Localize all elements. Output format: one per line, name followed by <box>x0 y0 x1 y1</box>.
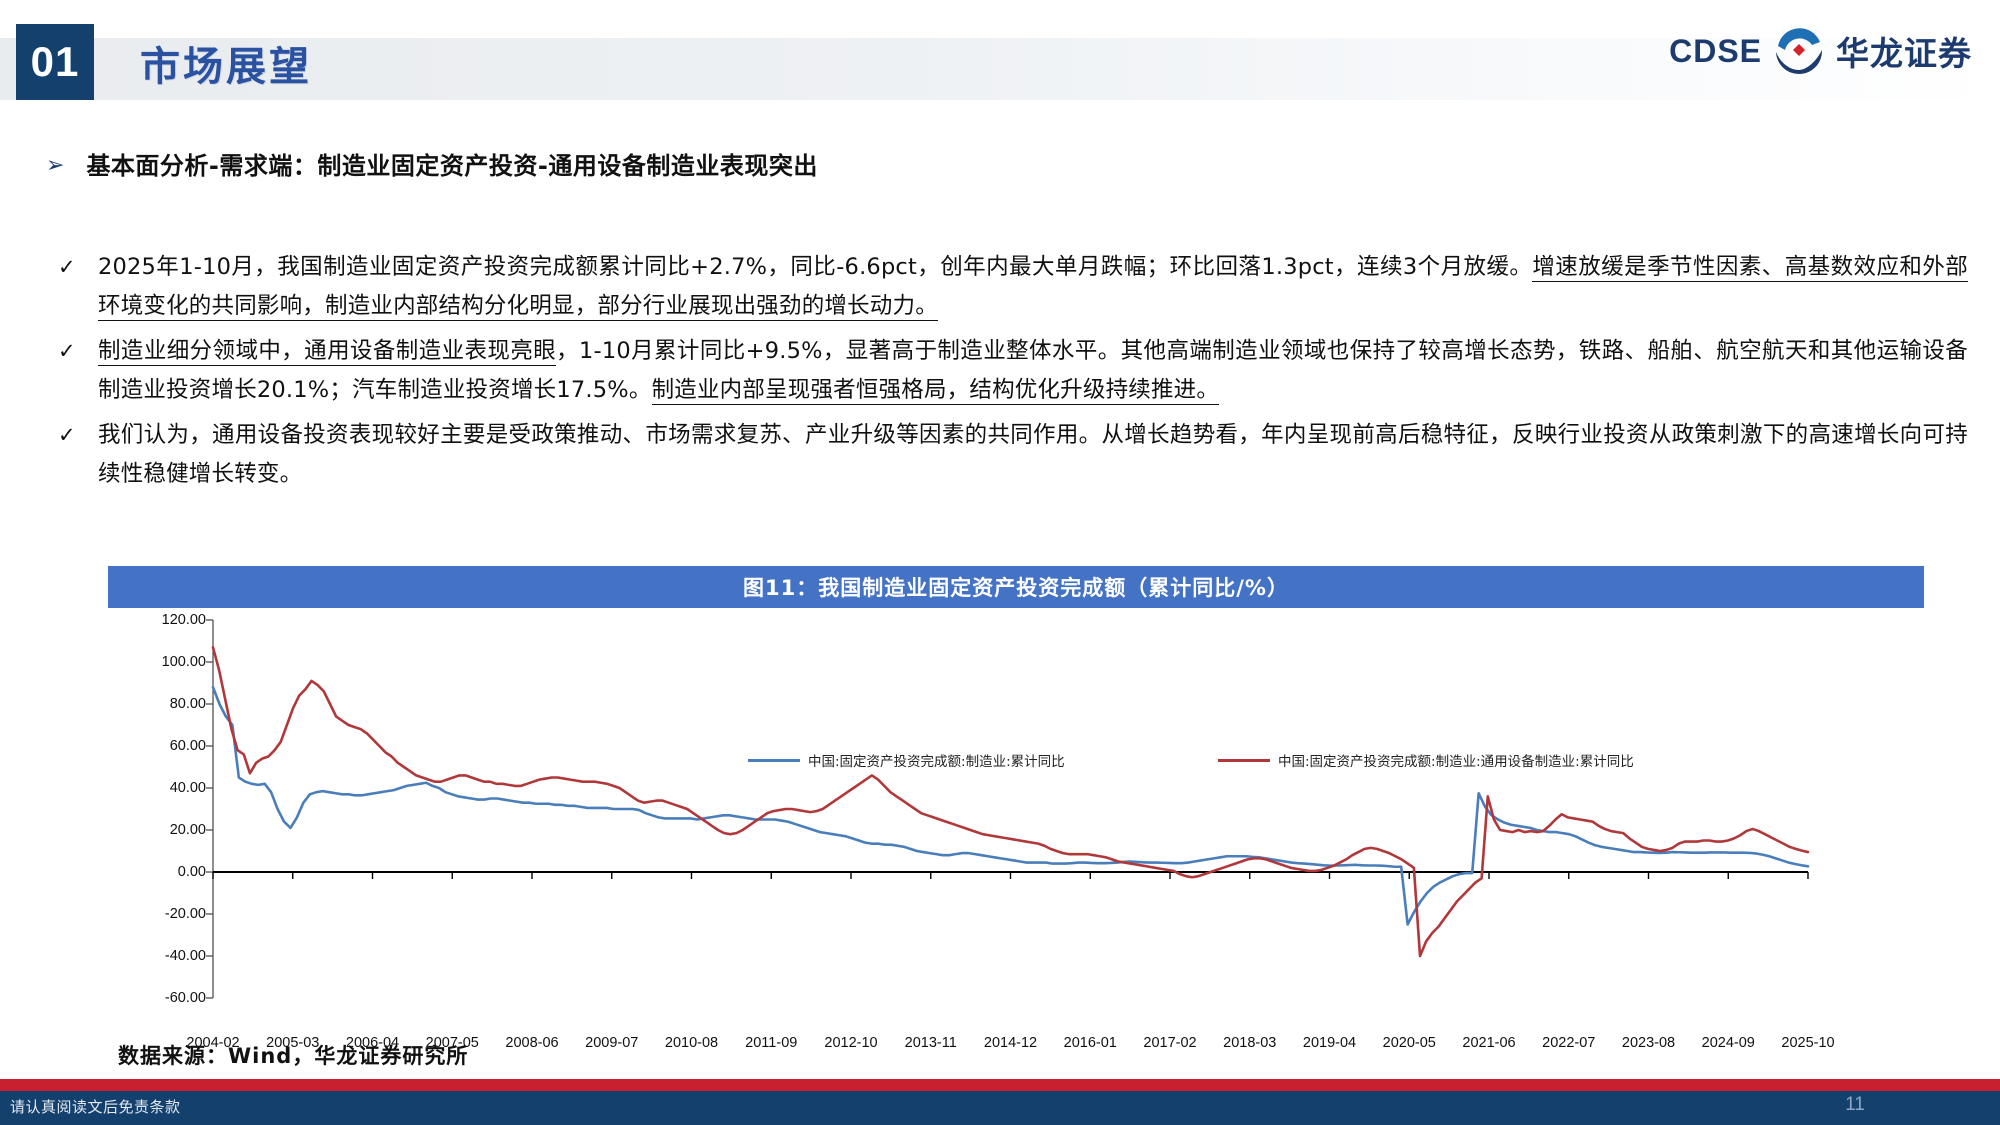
y-tick-label: 20.00 <box>170 822 206 838</box>
legend-item: 中国:固定资产投资完成额:制造业:通用设备制造业:累计同比 <box>1218 750 1634 770</box>
y-axis-labels: -60.00-40.00-20.000.0020.0040.0060.0080.… <box>108 608 206 1028</box>
x-tick-label: 2021-06 <box>1462 1035 1515 1051</box>
footer-navy-bar <box>0 1091 2000 1125</box>
y-tick-label: 0.00 <box>178 864 206 880</box>
x-tick-label: 2020-05 <box>1383 1035 1436 1051</box>
bullet-3-text: 我们认为，通用设备投资表现较好主要是受政策推动、市场需求复苏、产业升级等因素的共… <box>98 416 1968 494</box>
legend-label: 中国:固定资产投资完成额:制造业:通用设备制造业:累计同比 <box>1278 750 1634 770</box>
check-icon: ✓ <box>58 332 80 371</box>
legend-label: 中国:固定资产投资完成额:制造业:累计同比 <box>808 750 1065 770</box>
chart-svg <box>108 608 1924 1028</box>
bullet-2-text: 制造业细分领域中，通用设备制造业表现亮眼，1-10月累计同比+9.5%，显著高于… <box>98 332 1968 410</box>
y-tick-label: -20.00 <box>165 906 206 922</box>
x-tick-label: 2024-09 <box>1702 1035 1755 1051</box>
check-icon: ✓ <box>58 416 80 455</box>
lead-heading-text: 基本面分析-需求端：制造业固定资产投资-通用设备制造业表现突出 <box>86 150 817 182</box>
page-number: 11 <box>1825 1094 1885 1116</box>
x-tick-label: 2017-02 <box>1143 1035 1196 1051</box>
chart-plot-area: -60.00-40.00-20.000.0020.0040.0060.0080.… <box>108 608 1924 1028</box>
logo-latin-text: CDSE <box>1669 33 1762 70</box>
lead-heading: ➢ 基本面分析-需求端：制造业固定资产投资-通用设备制造业表现突出 <box>46 150 1746 182</box>
y-tick-label: 80.00 <box>170 696 206 712</box>
x-tick-label: 2011-09 <box>745 1035 797 1051</box>
x-tick-label: 2022-07 <box>1542 1035 1595 1051</box>
wave-circle-icon <box>1772 24 1826 78</box>
page-title: 市场展望 <box>140 34 312 92</box>
x-tick-label: 2008-06 <box>505 1035 558 1051</box>
source-note: 数据来源：Wind，华龙证券研究所 <box>118 1040 468 1070</box>
bullet-2-seg3: 制造业内部呈现强者恒强格局，结构优化升级持续推进。 <box>652 377 1220 405</box>
bullet-item-2: ✓ 制造业细分领域中，通用设备制造业表现亮眼，1-10月累计同比+9.5%，显著… <box>58 332 1968 410</box>
x-tick-label: 2023-08 <box>1622 1035 1675 1051</box>
x-tick-label: 2010-08 <box>665 1035 718 1051</box>
x-tick-label: 2013-11 <box>905 1035 957 1051</box>
section-number: 01 <box>16 24 94 100</box>
x-tick-label: 2012-10 <box>824 1035 877 1051</box>
footer-disclaimer: 请认真阅读文后免责条款 <box>10 1096 181 1117</box>
y-tick-label: -60.00 <box>165 990 206 1006</box>
bullet-item-1: ✓ 2025年1-10月，我国制造业固定资产投资完成额累计同比+2.7%，同比-… <box>58 248 1968 326</box>
bullet-1-line1: 2025年1-10月，我国制造业固定资产投资完成额累计同比+2.7%，同比-6.… <box>98 254 1532 280</box>
bullet-2-seg1: 制造业细分领域中，通用设备制造业表现亮眼 <box>98 338 556 366</box>
x-tick-label: 2018-03 <box>1223 1035 1276 1051</box>
legend-swatch <box>748 759 800 762</box>
chart-figure: 图11：我国制造业固定资产投资完成额（累计同比/%） -60.00-40.00-… <box>108 566 1924 1028</box>
legend-item: 中国:固定资产投资完成额:制造业:累计同比 <box>748 750 1065 770</box>
chart-title: 图11：我国制造业固定资产投资完成额（累计同比/%） <box>108 566 1924 608</box>
x-tick-label: 2025-10 <box>1781 1035 1834 1051</box>
bullet-1-text: 2025年1-10月，我国制造业固定资产投资完成额累计同比+2.7%，同比-6.… <box>98 248 1968 326</box>
arrow-bullet-icon: ➢ <box>46 150 64 180</box>
chart-legend: 中国:固定资产投资完成额:制造业:累计同比中国:固定资产投资完成额:制造业:通用… <box>108 750 1924 772</box>
bullet-list: ✓ 2025年1-10月，我国制造业固定资产投资完成额累计同比+2.7%，同比-… <box>58 248 1968 500</box>
x-tick-label: 2019-04 <box>1303 1035 1356 1051</box>
y-tick-label: 40.00 <box>170 780 206 796</box>
logo-chinese-text: 华龙证券 <box>1836 27 1972 75</box>
bullet-item-3: ✓ 我们认为，通用设备投资表现较好主要是受政策推动、市场需求复苏、产业升级等因素… <box>58 416 1968 494</box>
y-tick-label: 120.00 <box>162 612 206 628</box>
x-tick-label: 2014-12 <box>984 1035 1037 1051</box>
x-tick-label: 2009-07 <box>585 1035 638 1051</box>
legend-swatch <box>1218 759 1270 762</box>
footer-red-bar <box>0 1079 2000 1091</box>
y-tick-label: 100.00 <box>162 654 206 670</box>
x-tick-label: 2016-01 <box>1064 1035 1117 1051</box>
check-icon: ✓ <box>58 248 80 287</box>
y-tick-label: -40.00 <box>165 948 206 964</box>
company-logo: CDSE 华龙证券 <box>1669 22 1972 80</box>
